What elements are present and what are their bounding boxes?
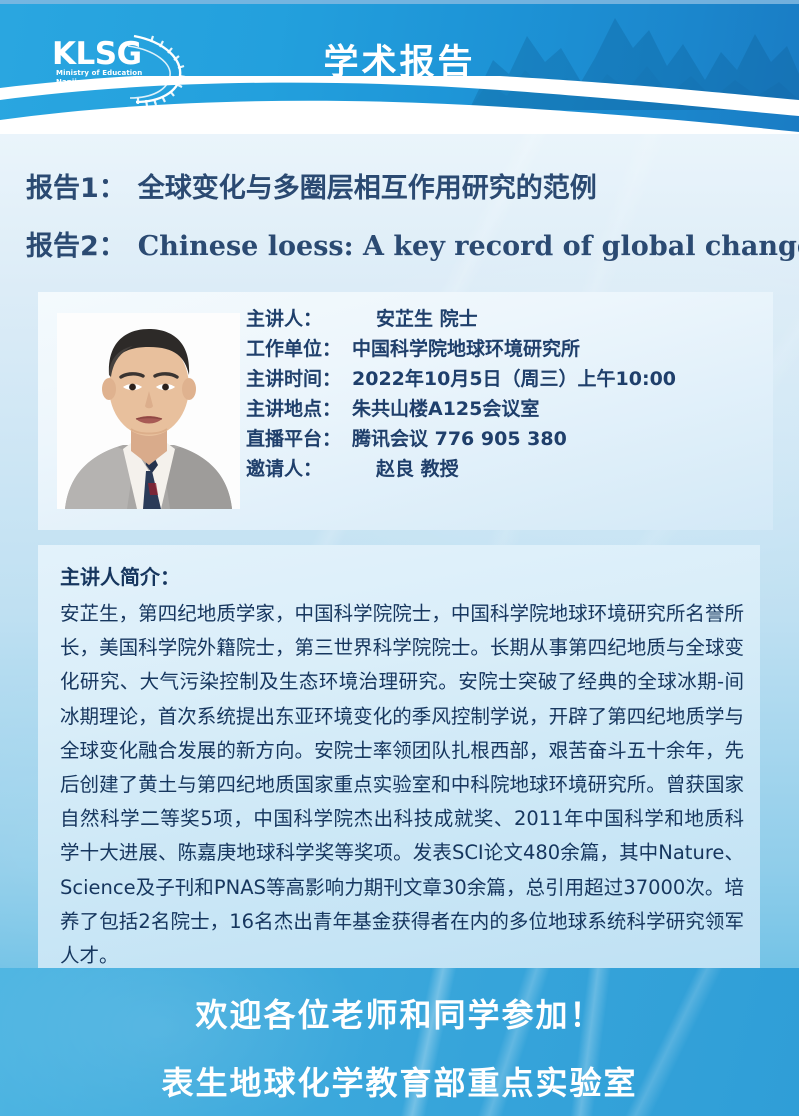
report-1-label: 报告1： <box>26 173 126 204</box>
report-1-line: 报告1：全球变化与多圈层相互作用研究的范例 <box>0 172 799 206</box>
info-row-host: 邀请人： 赵良 教授 <box>246 454 756 484</box>
info-value-time: 2022年10月5日（周三）上午10:00 <box>352 364 676 391</box>
info-row-speaker: 主讲人： 安芷生 院士 <box>246 304 756 334</box>
report-2-title: Chinese loess: A key record of global ch… <box>138 231 799 262</box>
poster-footer: 欢迎各位老师和同学参加！ 表生地球化学教育部重点实验室 <box>0 968 799 1116</box>
info-value-affiliation: 中国科学院地球环境研究所 <box>352 334 580 361</box>
report-1-title: 全球变化与多圈层相互作用研究的范例 <box>138 173 597 204</box>
info-row-time: 主讲时间： 2022年10月5日（周三）上午10:00 <box>246 364 756 394</box>
poster-header: KLSG Ministry of Education Nanjing Unive… <box>0 0 799 134</box>
page-title: 学术报告 <box>0 34 799 85</box>
info-row-affiliation: 工作单位： 中国科学院地球环境研究所 <box>246 334 756 364</box>
bio-text: 安芷生，第四纪地质学家，中国科学院院士，中国科学院地球环境研究所名誉所长，美国科… <box>60 597 744 973</box>
info-key-venue: 主讲地点： <box>246 394 350 421</box>
info-value-host: 赵良 教授 <box>376 454 459 481</box>
speaker-bio-box: 主讲人简介： 安芷生，第四纪地质学家，中国科学院院士，中国科学院地球环境研究所名… <box>38 545 760 968</box>
bio-heading: 主讲人简介： <box>60 561 180 590</box>
report-2-line: 报告2：Chinese loess: A key record of globa… <box>0 230 799 264</box>
info-key-livestream: 直播平台： <box>246 424 350 451</box>
info-value-livestream: 腾讯会议 776 905 380 <box>352 424 567 451</box>
info-row-venue: 主讲地点： 朱共山楼A125会议室 <box>246 394 756 424</box>
info-key-time: 主讲时间： <box>246 364 350 391</box>
speaker-info-panel: 主讲人： 安芷生 院士 工作单位： 中国科学院地球环境研究所 主讲时间： 202… <box>38 292 773 530</box>
info-value-venue: 朱共山楼A125会议室 <box>352 394 539 421</box>
speaker-info-rows: 主讲人： 安芷生 院士 工作单位： 中国科学院地球环境研究所 主讲时间： 202… <box>246 304 756 484</box>
report-titles: 报告1：全球变化与多圈层相互作用研究的范例 报告2：Chinese loess:… <box>0 172 799 264</box>
portrait-photo <box>57 313 240 509</box>
report-2-label: 报告2： <box>26 231 126 262</box>
info-key-host: 邀请人： <box>246 454 350 481</box>
info-key-affiliation: 工作单位： <box>246 334 350 361</box>
info-key-speaker: 主讲人： <box>246 304 350 331</box>
info-row-livestream: 直播平台： 腾讯会议 776 905 380 <box>246 424 756 454</box>
info-value-speaker: 安芷生 院士 <box>376 304 478 331</box>
footer-welcome-text: 欢迎各位老师和同学参加！ <box>0 990 799 1036</box>
footer-lab-name: 表生地球化学教育部重点实验室 <box>0 1058 799 1104</box>
speaker-portrait <box>57 313 240 509</box>
poster-root: KLSG Ministry of Education Nanjing Unive… <box>0 0 799 1116</box>
